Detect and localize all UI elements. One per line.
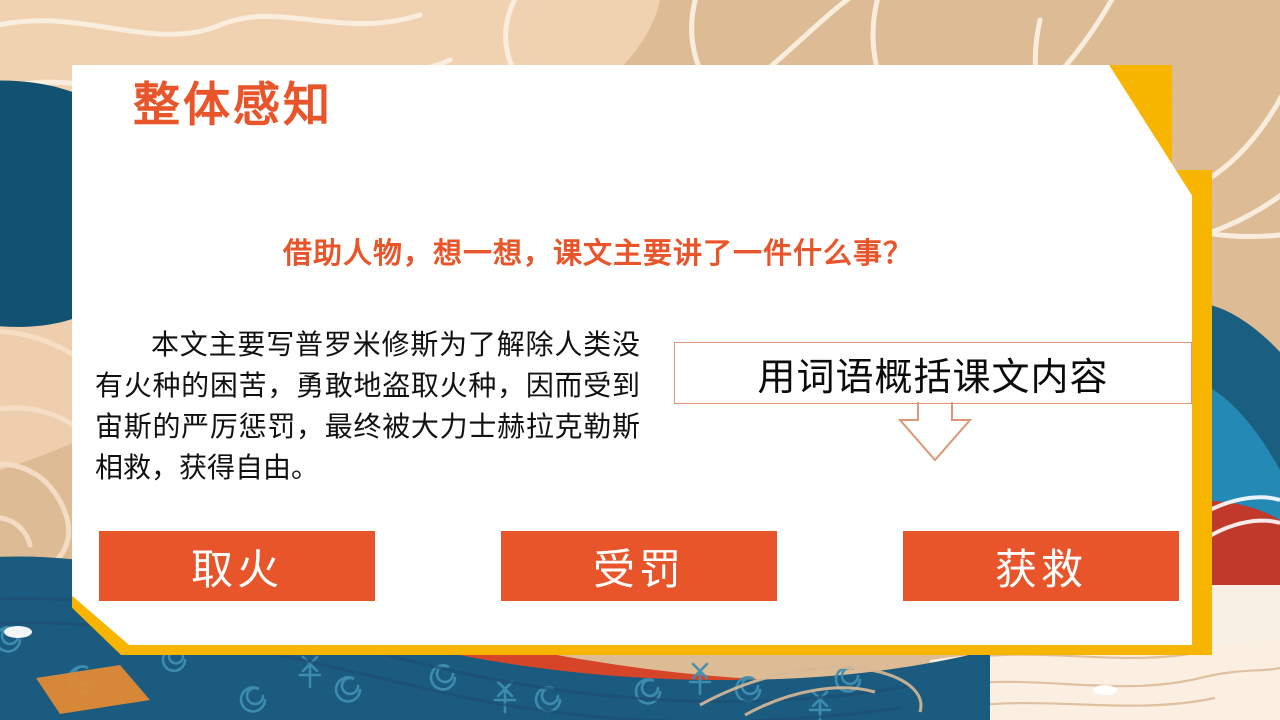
keyword-chip-shou-fa[interactable]: 受罚 — [501, 531, 777, 601]
callout-label: 用词语概括课文内容 — [757, 346, 1108, 401]
keyword-chip-label: 获救 — [995, 536, 1087, 597]
keyword-chip-label: 受罚 — [593, 536, 685, 597]
callout-box: 用词语概括课文内容 — [674, 342, 1192, 404]
summary-paragraph: 本文主要写普罗米修斯为了解除人类没有火种的困苦，勇敢地盗取火种，因而受到宙斯的严… — [95, 325, 640, 489]
page-title: 整体感知 — [133, 76, 333, 135]
arrow-down-icon — [880, 402, 990, 464]
keyword-chip-qu-huo[interactable]: 取火 — [99, 531, 375, 601]
keyword-chip-huo-jiu[interactable]: 获救 — [903, 531, 1179, 601]
section-question: 借助人物，想一想，课文主要讲了一件什么事？ — [283, 230, 913, 272]
keyword-chip-label: 取火 — [191, 536, 283, 597]
